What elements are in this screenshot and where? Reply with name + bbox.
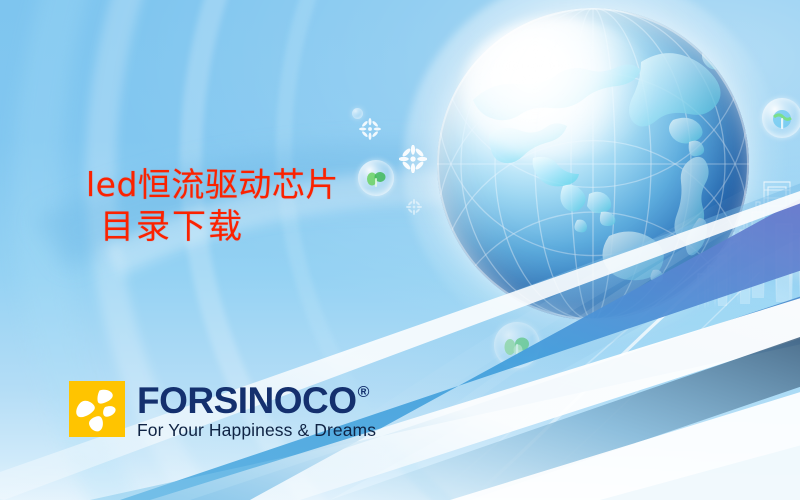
logo-tagline: For Your Happiness & Dreams bbox=[137, 420, 376, 440]
logo-wordmark: FORSINOCO bbox=[137, 383, 357, 419]
bubble-contents-globe bbox=[762, 98, 800, 138]
logo-wordmark-row: FORSINOCO ® bbox=[137, 383, 376, 419]
registered-trademark-icon: ® bbox=[358, 385, 369, 401]
pinwheel-petals-icon bbox=[69, 381, 125, 437]
forsinoco-pinwheel-icon bbox=[69, 381, 125, 437]
globe-rim bbox=[437, 8, 749, 320]
globe-graphic bbox=[437, 8, 749, 320]
headline-line-2: 目录下载 bbox=[86, 206, 416, 249]
promotional-banner: led恒流驱动芯片 目录下载 FORSINOCO ® For Your Happ… bbox=[0, 0, 800, 500]
headline-line-1: led恒流驱动芯片 bbox=[86, 163, 416, 206]
logo-text-block: FORSINOCO ® For Your Happiness & Dreams bbox=[137, 381, 376, 440]
bubble-contents-sprout bbox=[494, 322, 540, 368]
bubble-right-edge bbox=[762, 98, 800, 138]
company-logo[interactable]: FORSINOCO ® For Your Happiness & Dreams bbox=[69, 381, 376, 440]
headline: led恒流驱动芯片 目录下载 bbox=[86, 163, 416, 249]
bubble-tiny bbox=[352, 108, 363, 119]
bubble-center-lower bbox=[494, 322, 540, 368]
